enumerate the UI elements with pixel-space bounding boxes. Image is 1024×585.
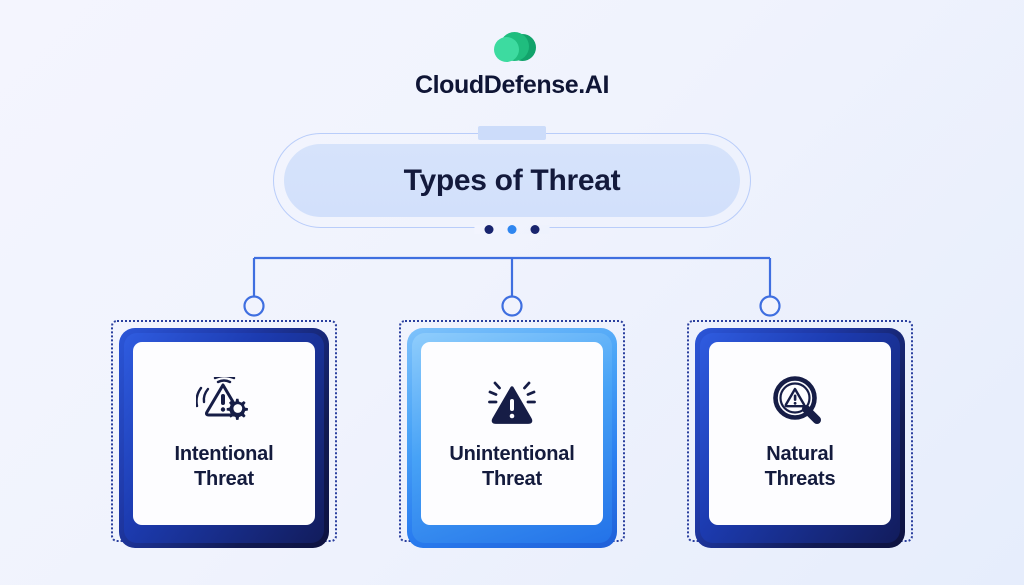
card-frame-inner: Unintentional Threat	[412, 333, 612, 543]
connector-node-middle	[503, 297, 522, 316]
connector-node-right	[761, 297, 780, 316]
card-frame-inner: Natural Threats	[700, 333, 900, 543]
card-label: Intentional Threat	[169, 442, 280, 492]
title-banner: Types of Threat	[273, 133, 751, 228]
banner-dot-2	[508, 225, 517, 234]
cloud-blob-front	[494, 37, 519, 62]
magnifier-warning-icon	[771, 376, 829, 428]
warning-triangle-rays-icon	[483, 376, 541, 428]
banner-dot-3	[531, 225, 540, 234]
card-frame: Natural Threats	[695, 328, 905, 548]
card-label: Natural Threats	[759, 442, 842, 492]
card-frame: Intentional Threat	[119, 328, 329, 548]
card-face: Unintentional Threat	[421, 342, 603, 525]
cloud-blobs-icon	[486, 30, 538, 64]
card-face: Intentional Threat	[133, 342, 315, 525]
card-frame-inner: Intentional Threat	[124, 333, 324, 543]
card-label: Unintentional Threat	[443, 442, 580, 492]
warning-triangle-gear-icon	[195, 376, 253, 428]
threat-card-natural[interactable]: Natural Threats	[687, 320, 913, 542]
connector-node-left	[245, 297, 264, 316]
page-title: Types of Threat	[404, 164, 621, 198]
card-face: Natural Threats	[709, 342, 891, 525]
threat-card-intentional[interactable]: Intentional Threat	[111, 320, 337, 542]
banner-dot-1	[485, 225, 494, 234]
brand-name: CloudDefense.AI	[415, 71, 609, 100]
connector-tree	[0, 244, 1024, 324]
banner-dots	[475, 225, 550, 234]
banner-inner-pill: Types of Threat	[284, 144, 740, 217]
card-frame: Unintentional Threat	[407, 328, 617, 548]
threat-cards-row: Intentional Threat	[0, 320, 1024, 542]
infographic-canvas: CloudDefense.AI Types of Threat	[0, 0, 1024, 585]
banner-notch	[478, 126, 546, 140]
threat-card-unintentional[interactable]: Unintentional Threat	[399, 320, 625, 542]
brand-logo: CloudDefense.AI	[0, 30, 1024, 100]
